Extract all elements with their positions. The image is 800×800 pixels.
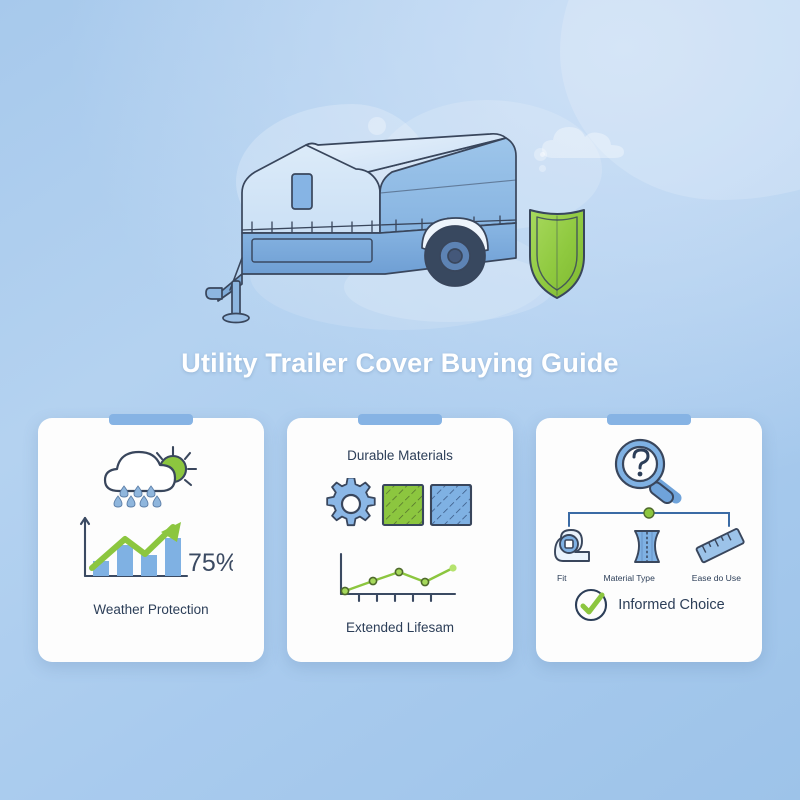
feature-cards-row: 75% Weather Protection Durable Materials xyxy=(38,418,762,662)
page-title: Utility Trailer Cover Buying Guide xyxy=(0,348,800,379)
green-fabric-swatch-icon xyxy=(383,485,423,525)
bar-chart-with-trend-arrow: 75% xyxy=(69,512,233,588)
factor-connector-bracket-icon xyxy=(551,504,747,528)
factor-label-row: Fit Material Type Ease do Use xyxy=(551,573,747,583)
blue-fabric-swatch-icon xyxy=(431,485,471,525)
extended-life-line-chart xyxy=(325,550,475,604)
card-tab-accent xyxy=(109,414,193,425)
informed-choice-badge: Informed Choice xyxy=(573,587,724,623)
card-tab-accent xyxy=(358,414,442,425)
magnifier-question-icon xyxy=(606,436,692,504)
hero-trailer-illustration xyxy=(200,98,600,328)
infographic-canvas: Utility Trailer Cover Buying Guide xyxy=(0,0,800,800)
card-durable-materials[interactable]: Durable Materials xyxy=(287,418,513,662)
factor-label-fit: Fit xyxy=(557,573,567,583)
card-weather-protection[interactable]: 75% Weather Protection xyxy=(38,418,264,662)
weather-stat-value: 75% xyxy=(188,549,233,577)
buying-factor-icons xyxy=(551,528,747,572)
gear-icon xyxy=(327,478,375,525)
connector-node-icon xyxy=(644,508,654,518)
line-markers xyxy=(341,565,456,595)
factor-label-material-type: Material Type xyxy=(603,573,654,583)
card-informed-choice[interactable]: Fit Material Type Ease do Use Informed C… xyxy=(536,418,762,662)
card-materials-caption: Extended Lifesam xyxy=(346,620,454,636)
check-circle-icon xyxy=(573,587,609,623)
informed-choice-label: Informed Choice xyxy=(618,597,724,613)
tape-measure-icon xyxy=(555,530,589,561)
materials-icon-group xyxy=(325,478,475,536)
card-weather-caption: Weather Protection xyxy=(93,602,208,618)
card-tab-accent xyxy=(607,414,691,425)
factor-label-ease-of-use: Ease do Use xyxy=(692,573,741,583)
card-materials-title: Durable Materials xyxy=(347,448,453,464)
fabric-roll-icon xyxy=(635,531,659,562)
sun-cloud-rain-icon xyxy=(95,444,207,510)
ruler-icon xyxy=(696,528,744,563)
